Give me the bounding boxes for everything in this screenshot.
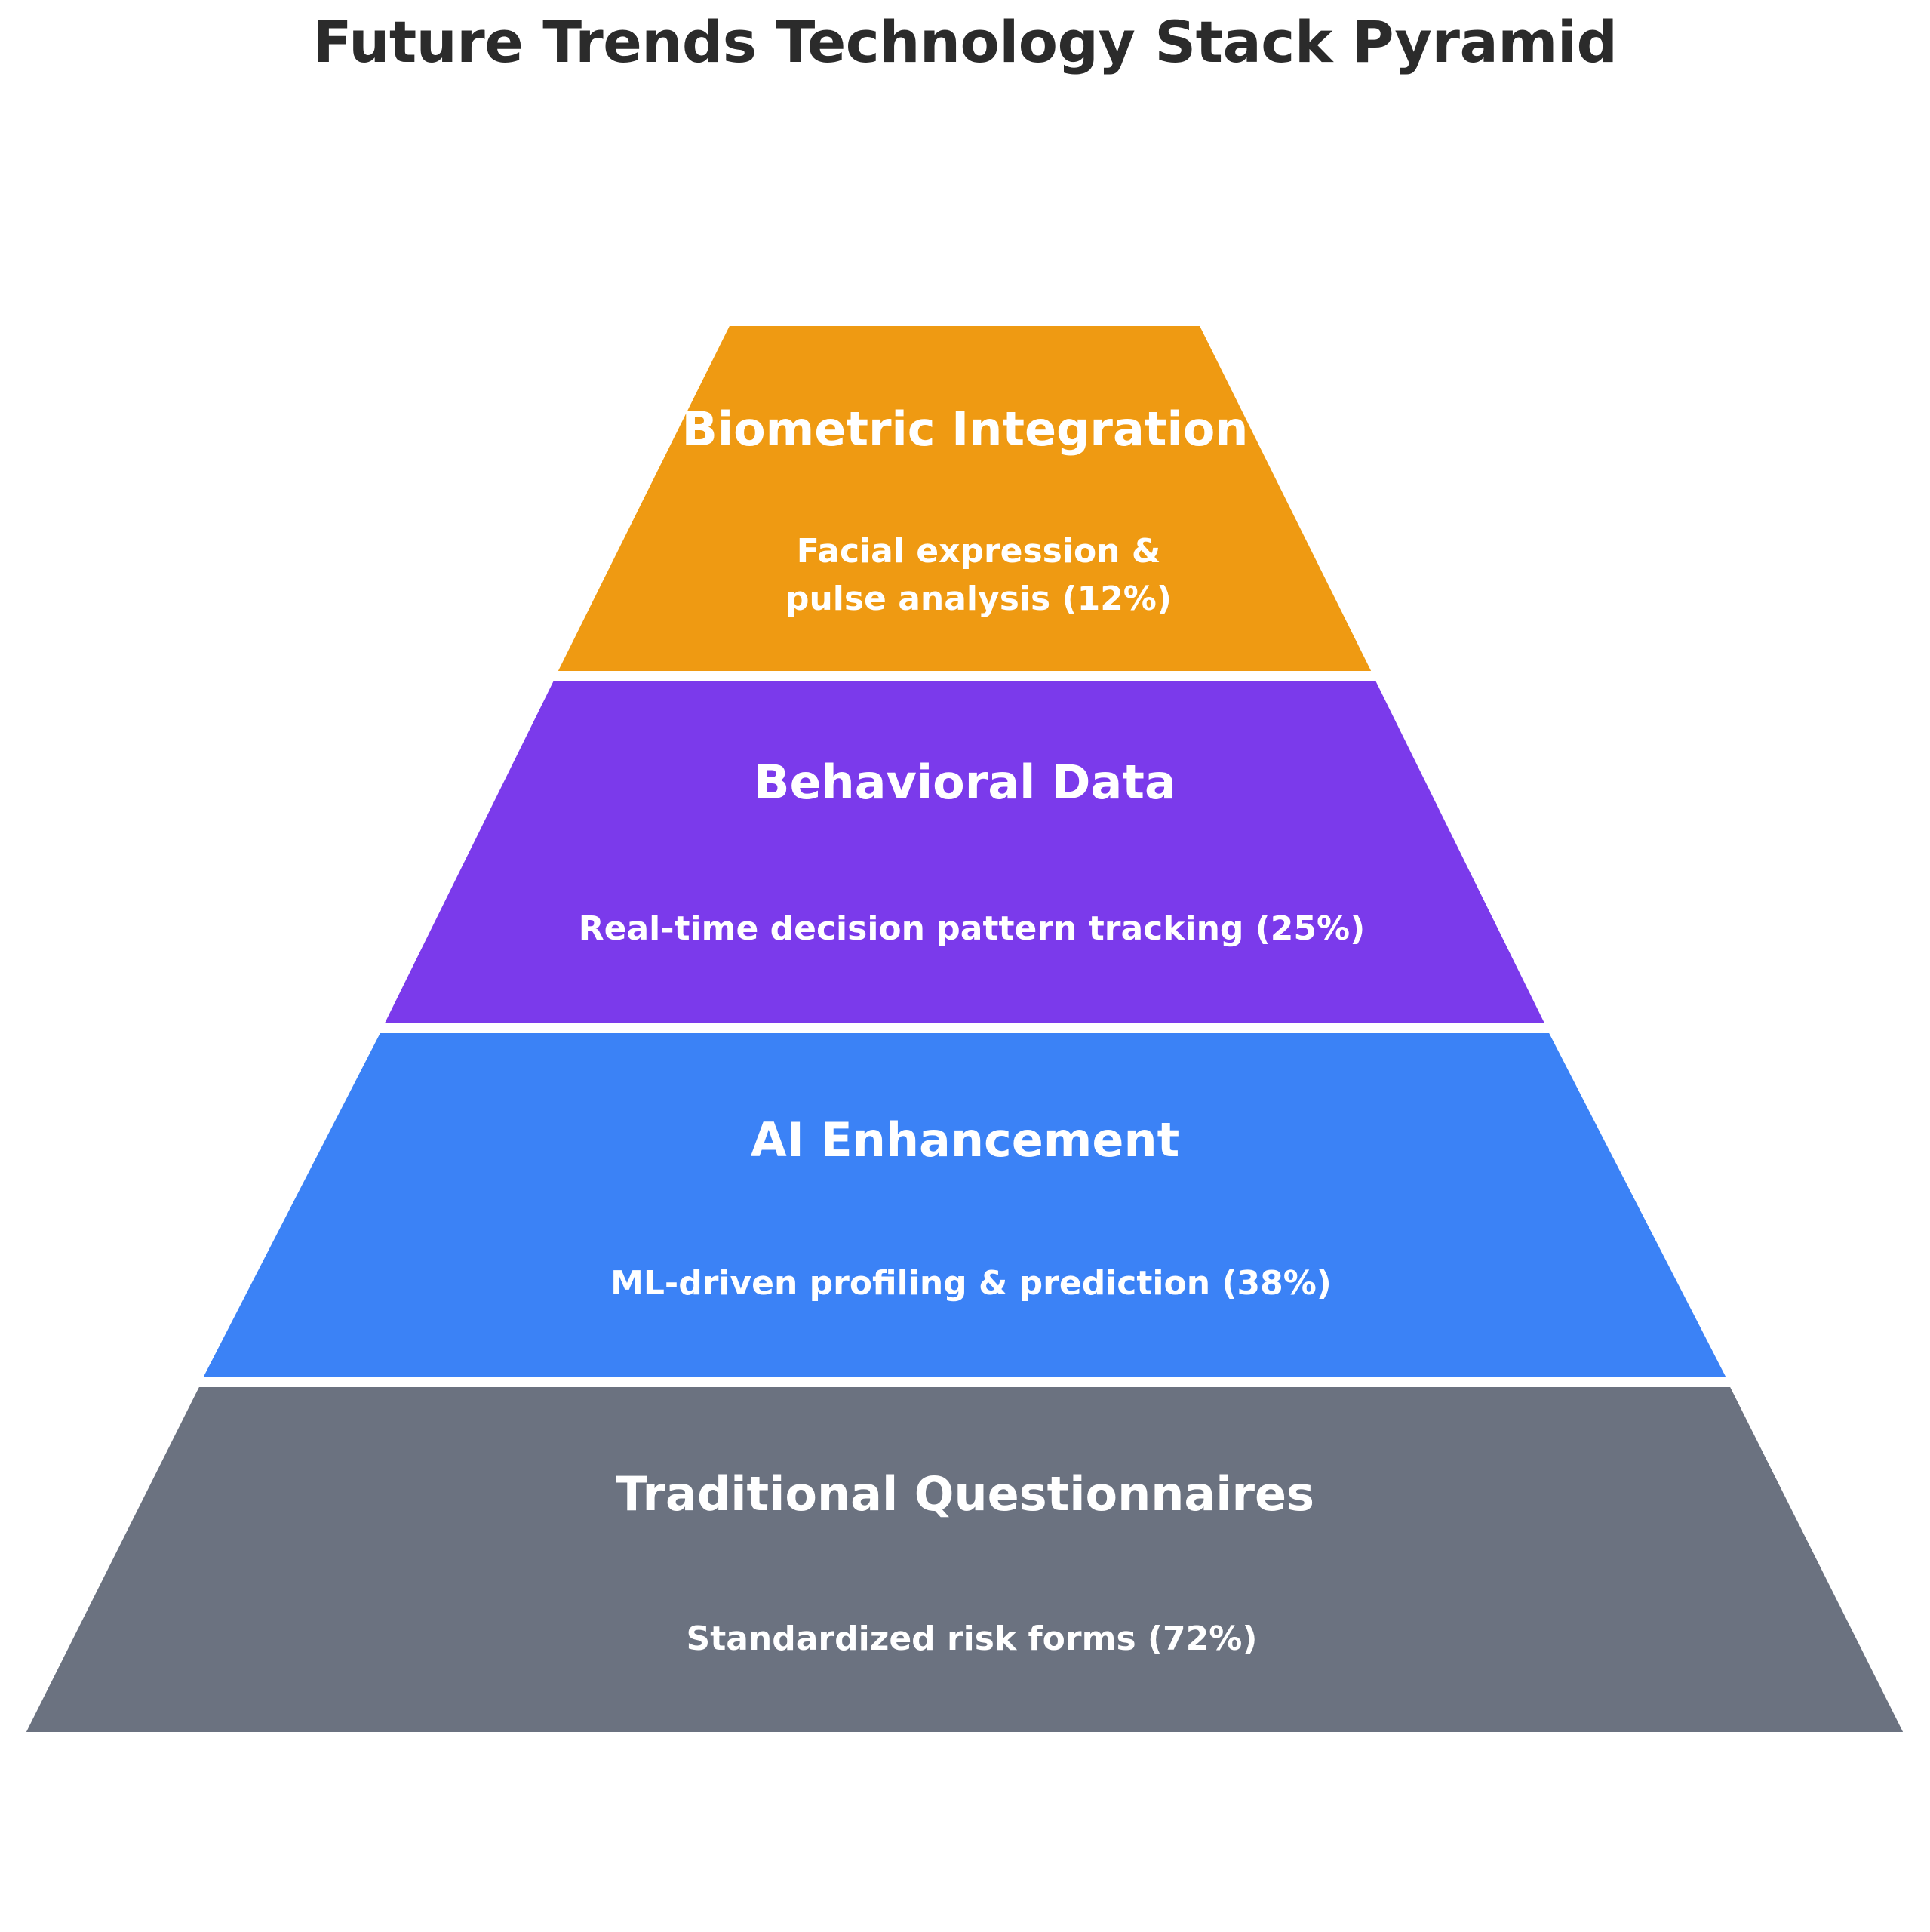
tier-description-traditional-questionnaires: Standardized risk forms (72%) [687, 1620, 1258, 1658]
tier-description-line1-biometric-integration: Facial expression & [797, 532, 1160, 571]
tier-description-line2-biometric-integration: pulse analysis (12%) [785, 580, 1172, 618]
tier-shape-traditional-questionnaires[interactable] [23, 1385, 1907, 1734]
tier-shape-biometric-integration[interactable] [555, 324, 1375, 673]
tier-title-ai-enhancement: AI Enhancement [751, 1112, 1179, 1168]
tier-title-traditional-questionnaires: Traditional Questionnaires [616, 1466, 1314, 1521]
pyramid-tier-behavioral-data[interactable]: Behavioral Data Real-time decision patte… [381, 678, 1548, 1026]
pyramid-tier-biometric-integration[interactable]: Biometric Integration Facial expression … [555, 324, 1375, 673]
tier-description-behavioral-data: Real-time decision pattern tracking (25%… [579, 909, 1366, 948]
tier-description-ai-enhancement: ML-driven profiling & prediction (38%) [610, 1264, 1332, 1303]
tier-shape-ai-enhancement[interactable] [200, 1031, 1729, 1379]
pyramid-graphic: Biometric Integration Facial expression … [0, 0, 1930, 1932]
pyramid-chart-canvas: Future Trends Technology Stack Pyramid B… [0, 0, 1930, 1932]
pyramid-tier-traditional-questionnaires[interactable]: Traditional Questionnaires Standardized … [23, 1385, 1907, 1734]
tier-title-behavioral-data: Behavioral Data [754, 755, 1176, 810]
tier-shape-behavioral-data[interactable] [381, 678, 1548, 1026]
pyramid-tier-ai-enhancement[interactable]: AI Enhancement ML-driven profiling & pre… [200, 1031, 1729, 1379]
tier-title-biometric-integration: Biometric Integration [682, 401, 1249, 457]
